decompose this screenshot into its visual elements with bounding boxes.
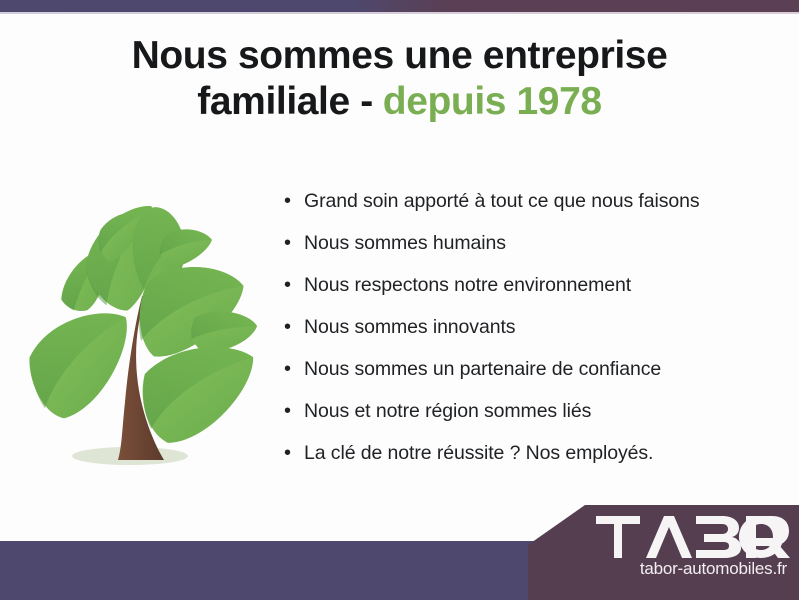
list-item: • Grand soin apporté à tout ce que nous …: [284, 190, 784, 232]
list-item-label: Nous respectons notre environnement: [304, 274, 631, 297]
bullet-marker-icon: •: [284, 275, 304, 295]
list-item-label: La clé de notre réussite ? Nos employés.: [304, 442, 653, 465]
bullet-marker-icon: •: [284, 443, 304, 463]
list-item-label: Nous sommes humains: [304, 232, 506, 255]
title-line-2: familiale -depuis 1978: [0, 79, 799, 125]
page-title: Nous sommes une entreprise familiale -de…: [0, 33, 799, 125]
list-item: • Nous sommes innovants: [284, 316, 784, 358]
logo-wordmark: [596, 516, 791, 558]
logo-url-label[interactable]: tabor-automobiles.fr: [528, 559, 799, 579]
bullet-marker-icon: •: [284, 317, 304, 337]
bullet-marker-icon: •: [284, 191, 304, 211]
list-item: • La clé de notre réussite ? Nos employé…: [284, 442, 784, 484]
list-item: • Nous sommes un partenaire de confiance: [284, 358, 784, 400]
list-item-label: Nous sommes innovants: [304, 316, 515, 339]
bullet-marker-icon: •: [284, 401, 304, 421]
logo-text-layer: tabor-automobiles.fr: [528, 505, 799, 600]
list-item: • Nous respectons notre environnement: [284, 274, 784, 316]
title-line-2-black: familiale -: [197, 80, 373, 123]
top-accent-hairline: [0, 12, 799, 14]
list-item: • Nous sommes humains: [284, 232, 784, 274]
list-item-label: Grand soin apporté à tout ce que nous fa…: [304, 190, 700, 213]
list-item-label: Nous sommes un partenaire de confiance: [304, 358, 661, 381]
top-accent-bar: [0, 0, 799, 12]
bullet-list: • Grand soin apporté à tout ce que nous …: [284, 190, 784, 484]
leaf-left-lower: [25, 311, 136, 422]
list-item-label: Nous et notre région sommes liés: [304, 400, 591, 423]
bullet-marker-icon: •: [284, 359, 304, 379]
logo-block[interactable]: tabor-automobiles.fr: [528, 505, 799, 600]
slide-canvas: Nous sommes une entreprise familiale -de…: [0, 0, 799, 600]
list-item: • Nous et notre région sommes liés: [284, 400, 784, 442]
title-line-1: Nous sommes une entreprise: [0, 33, 799, 79]
tree-illustration: [18, 178, 272, 490]
bullet-marker-icon: •: [284, 233, 304, 253]
title-line-2-accent: depuis 1978: [383, 80, 602, 123]
